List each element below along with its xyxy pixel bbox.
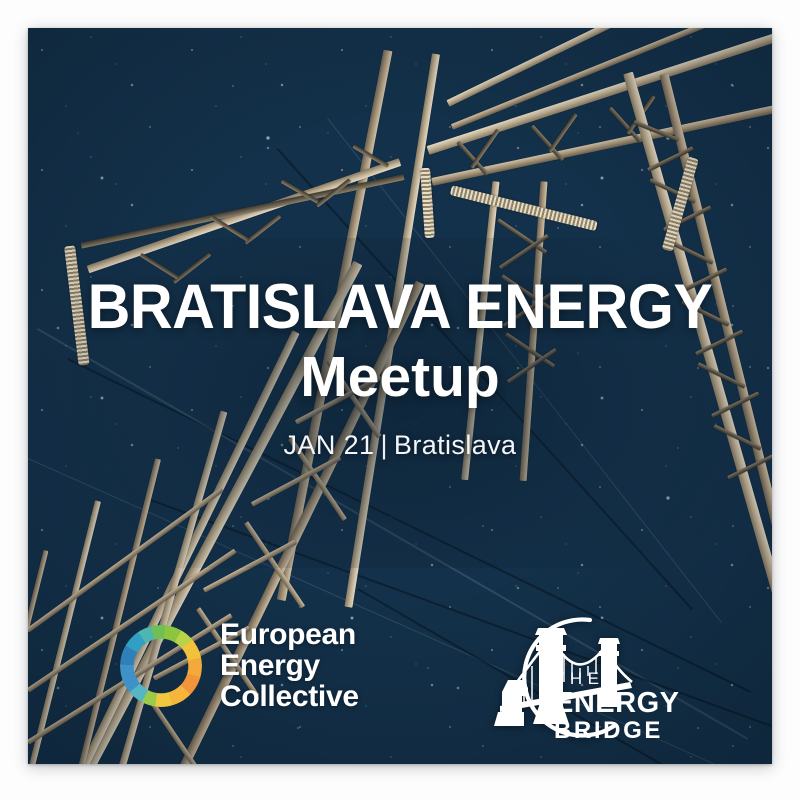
page-title: BRATISLAVA ENERGY	[50, 274, 749, 340]
logo-line-3: Collective	[220, 682, 359, 713]
logo-wordmark: European Energy Collective	[220, 620, 359, 713]
logo-line-3: BRIDGE	[554, 719, 679, 743]
event-meta: JAN 21|Bratislava	[28, 430, 772, 461]
logo-european-energy-collective[interactable]: European Energy Collective	[120, 620, 359, 713]
logo-wordmark: THE ENERGY BRIDGE	[554, 670, 679, 743]
page-subtitle: Meetup	[28, 348, 772, 408]
logo-row: European Energy Collective	[28, 598, 772, 758]
event-location: Bratislava	[394, 430, 517, 460]
logo-line-1: THE	[554, 670, 679, 687]
headline-block: BRATISLAVA ENERGY Meetup JAN 21|Bratisla…	[28, 274, 772, 461]
logo-line-2: Energy	[220, 651, 359, 682]
page-canvas: BRATISLAVA ENERGY Meetup JAN 21|Bratisla…	[0, 0, 800, 800]
multicolor-donut-ring-icon	[120, 625, 202, 707]
event-date: JAN 21	[284, 430, 375, 460]
meta-separator: |	[374, 430, 393, 461]
logo-line-1: European	[220, 620, 359, 651]
logo-line-2: ENERGY	[554, 689, 679, 718]
logo-the-energy-bridge[interactable]: THE ENERGY BRIDGE	[480, 608, 670, 758]
event-poster: BRATISLAVA ENERGY Meetup JAN 21|Bratisla…	[28, 28, 772, 764]
